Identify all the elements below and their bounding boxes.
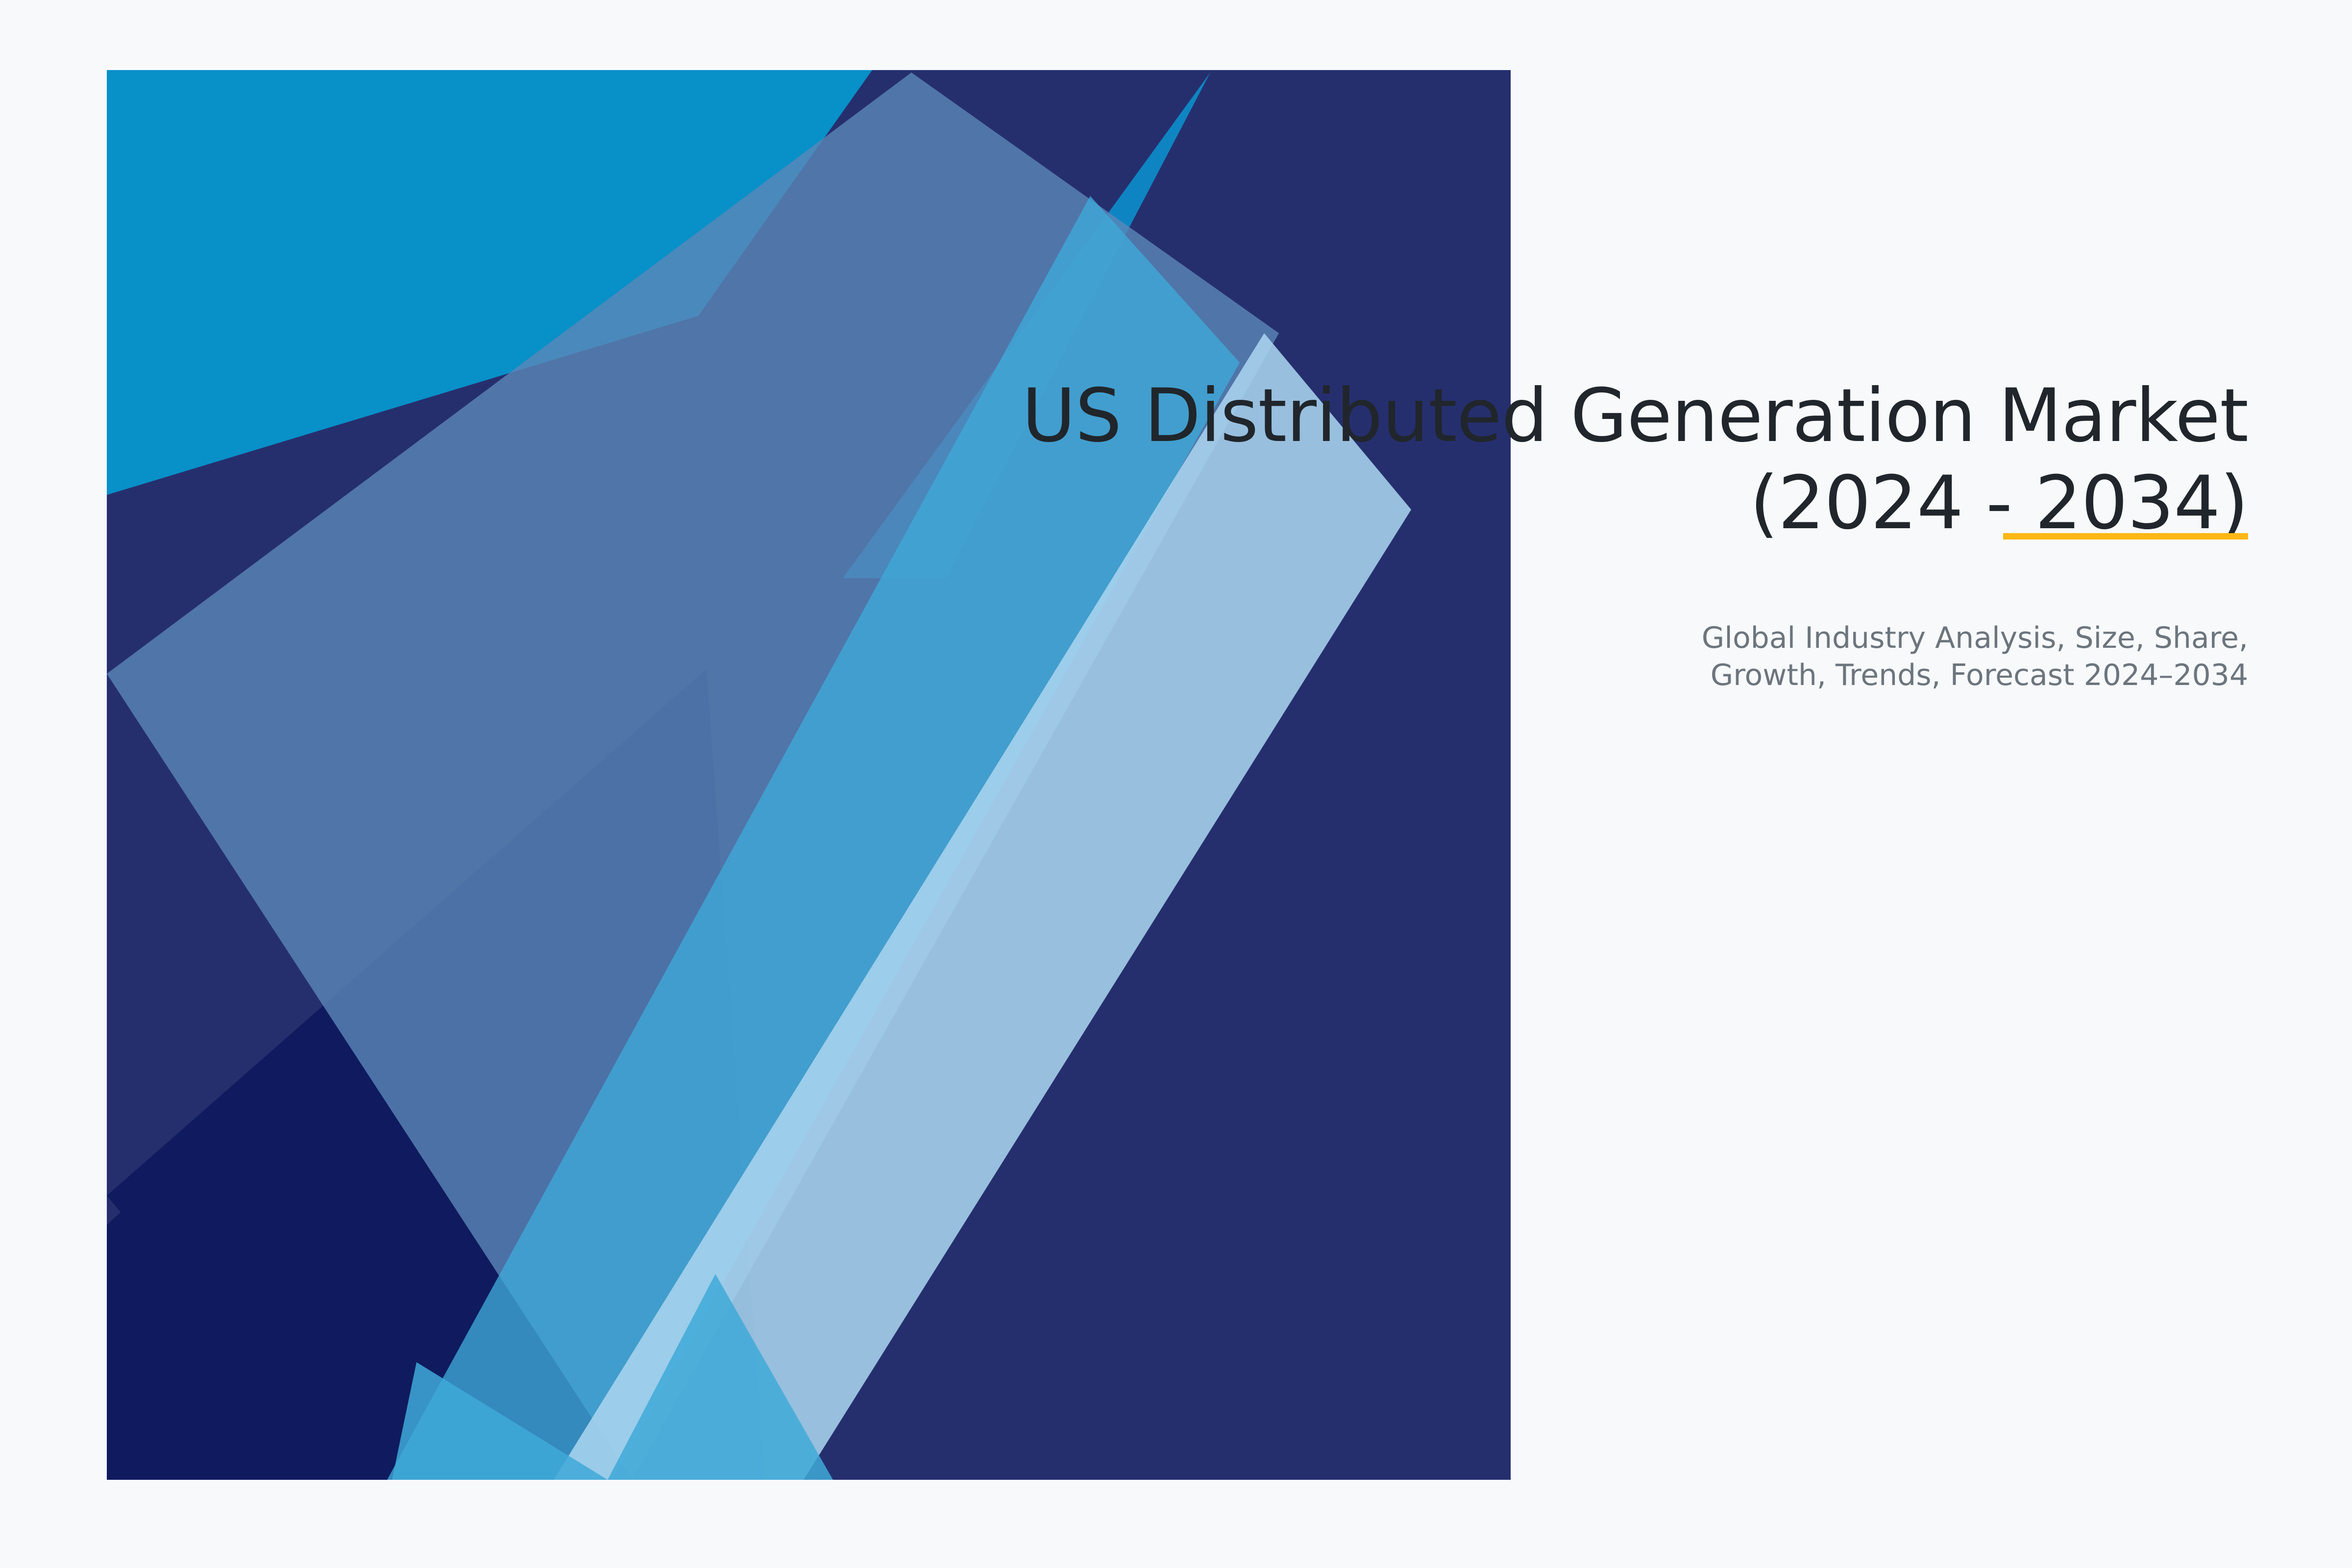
cover-text-column: US Distributed Generation Market (2024 -…: [974, 372, 2248, 694]
title-line-1: US Distributed Generation Market: [974, 372, 2248, 460]
subtitle-line-2: Growth, Trends, Forecast 2024–2034: [974, 657, 2248, 694]
highlight-underline: [2003, 533, 2248, 539]
subtitle-line-1: Global Industry Analysis, Size, Share,: [974, 619, 2248, 657]
page-title: US Distributed Generation Market (2024 -…: [974, 372, 2248, 547]
report-cover-page: US Distributed Generation Market (2024 -…: [0, 0, 2352, 1568]
abstract-polygon-graphic: [0, 0, 2352, 1568]
page-subtitle: Global Industry Analysis, Size, Share, G…: [974, 619, 2248, 694]
